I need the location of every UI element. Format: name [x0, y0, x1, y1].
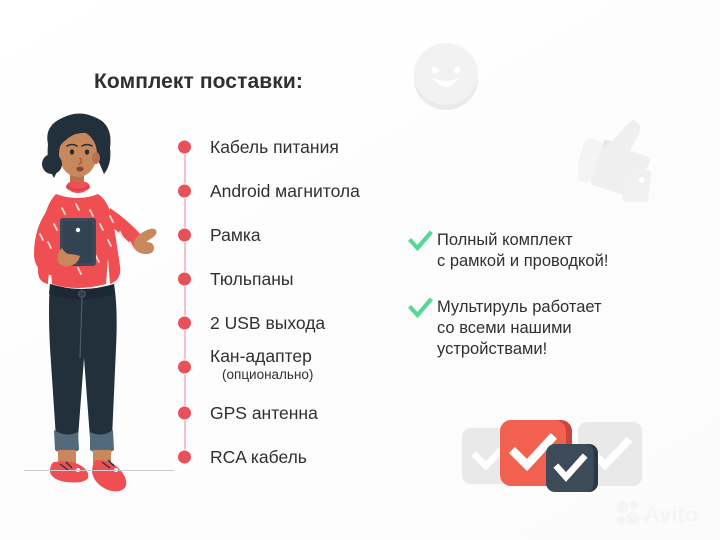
checkbox-dark	[546, 444, 594, 492]
promo-card: Комплект поставки:	[0, 0, 720, 540]
list-item-label: Кабель питания	[210, 137, 339, 157]
benefit-text: Полный комплект с рамкой и проводкой!	[437, 230, 608, 272]
page-title: Комплект поставки:	[94, 70, 303, 94]
woman-with-tablet-illustration	[10, 108, 182, 508]
ground-line	[24, 470, 174, 471]
benefit-text: Мультируль работает со всеми нашими устр…	[437, 297, 602, 360]
list-item-sublabel: (опционально)	[222, 367, 313, 382]
smiley-face-icon	[410, 40, 482, 112]
bullet-dot	[178, 317, 191, 330]
checkbox-checkmarks-graphic	[462, 412, 642, 497]
bullet-dot	[178, 407, 191, 420]
list-item-label: 2 USB выхода	[210, 313, 325, 333]
check-icon	[408, 296, 433, 321]
benefit-item: Полный комплект с рамкой и проводкой!	[408, 230, 708, 272]
bullet-dot	[178, 361, 191, 374]
list-item-label: RCA кабель	[210, 447, 307, 467]
avito-watermark: Avito	[614, 498, 710, 528]
bullet-dot	[178, 185, 191, 198]
list-item-label: Кан-адаптер	[210, 346, 312, 366]
list-item-label: Рамка	[210, 225, 261, 245]
bullet-dot	[178, 273, 191, 286]
list-item-label: Тюльпаны	[210, 269, 293, 289]
bullet-dot	[178, 451, 191, 464]
benefit-item: Мультируль работает со всеми нашими устр…	[408, 297, 708, 360]
list-item-label: GPS антенна	[210, 403, 318, 423]
avito-wordmark: Avito	[644, 502, 698, 527]
list-item-label: Android магнитола	[210, 181, 360, 201]
thumbs-up-icon	[578, 110, 662, 202]
bullet-dot	[178, 141, 191, 154]
bullet-dot	[178, 229, 191, 242]
check-icon	[408, 229, 433, 254]
